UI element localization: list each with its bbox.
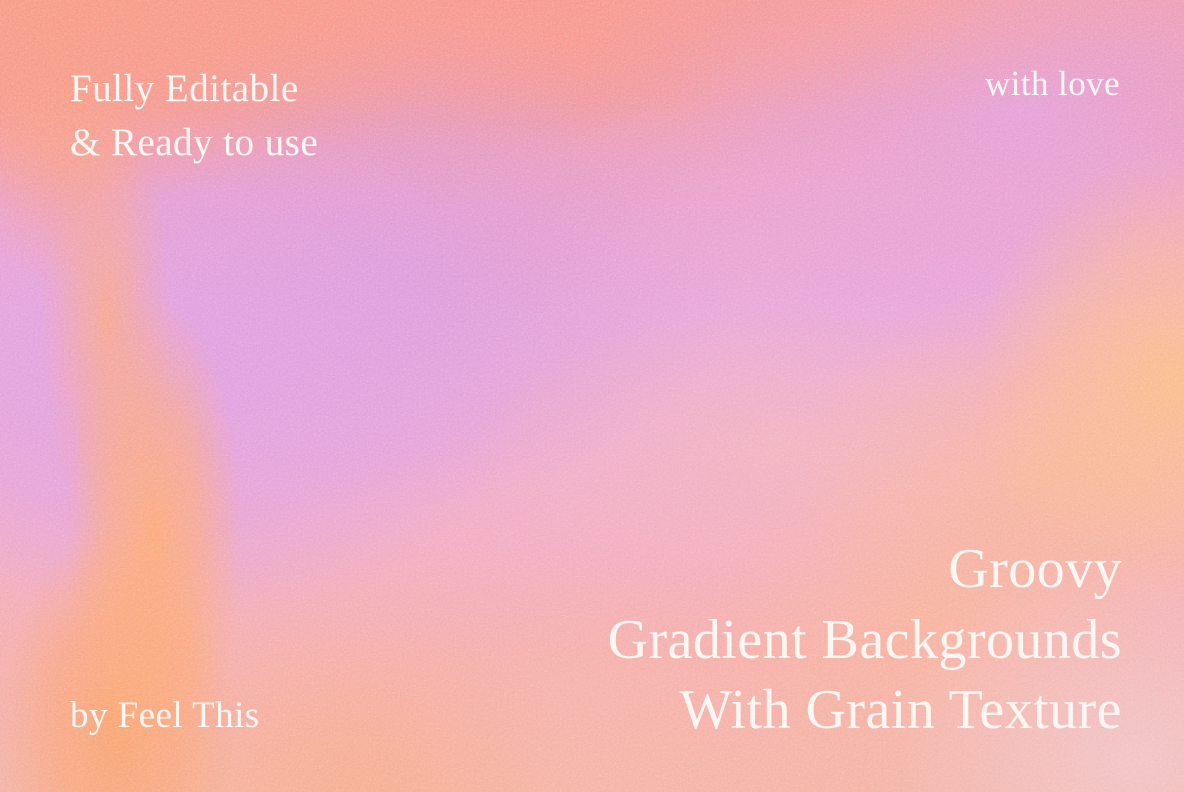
with-love-text: with love <box>985 64 1120 103</box>
headline-title: Groovy Gradient Backgrounds With Grain T… <box>608 534 1122 746</box>
tagline-editable-text: Fully Editable & Ready to use <box>70 62 318 170</box>
gradient-poster: Fully Editable & Ready to use with love … <box>0 0 1184 792</box>
credit-byline-text: by Feel This <box>70 695 260 736</box>
